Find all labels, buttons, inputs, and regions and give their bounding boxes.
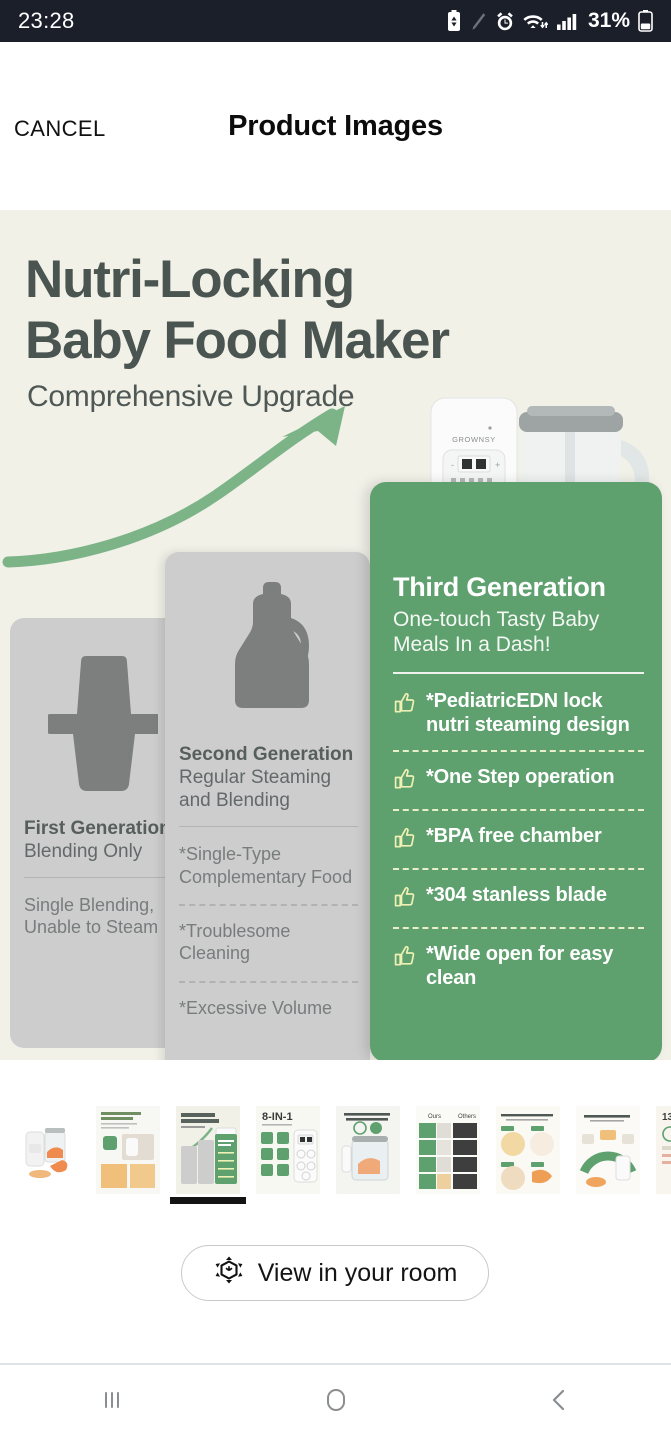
signal-icon	[556, 11, 578, 32]
recents-icon	[96, 1384, 128, 1421]
wifi-icon	[523, 11, 548, 32]
thumbs-up-icon	[393, 767, 417, 796]
battery-icon	[638, 10, 653, 32]
svg-text:13: 13	[662, 1112, 671, 1123]
page-title: Product Images	[0, 110, 671, 143]
status-icons: 31%	[446, 9, 653, 33]
thumbnail-natural-steaming-structure[interactable]	[328, 1104, 408, 1196]
view-in-your-room-label: View in your room	[258, 1259, 458, 1288]
divider	[179, 826, 358, 827]
android-navbar	[0, 1365, 671, 1440]
generation-second-bullet-3: *Excessive Volume	[179, 997, 358, 1019]
thumbnail-preparation-every-stage[interactable]	[488, 1104, 568, 1196]
thumbnail-image	[96, 1106, 160, 1194]
thumbnail-ours-vs-others[interactable]: Ours Others	[408, 1104, 488, 1196]
hero-title: Nutri-Locking Baby Food Maker	[25, 250, 449, 372]
feature-item: *304 stanless blade	[393, 883, 644, 914]
divider-dashed	[393, 927, 644, 929]
generation-second-heading: Second Generation	[179, 744, 358, 766]
divider-dashed	[179, 981, 358, 983]
thumbs-up-icon	[393, 826, 417, 855]
view-in-your-room-button[interactable]: View in your room	[181, 1245, 489, 1301]
feature-label-2: *One Step operation	[426, 765, 614, 789]
recents-button[interactable]	[0, 1384, 224, 1421]
thumbs-up-icon	[393, 944, 417, 973]
battery-percent: 31%	[588, 9, 630, 33]
status-time: 23:28	[18, 8, 75, 34]
thumbnail-image	[496, 1106, 560, 1194]
product-image-viewer[interactable]: Nutri-Locking Baby Food Maker Comprehens…	[0, 210, 671, 1060]
thumbnail-8-in-1-controls[interactable]: 8-IN-1	[248, 1104, 328, 1196]
thumbnail-strip[interactable]: 8-IN-1	[0, 1060, 671, 1240]
status-bar: 23:28 31%	[0, 0, 671, 42]
svg-text:8-IN-1: 8-IN-1	[262, 1111, 293, 1123]
generation-second-bullet-2: *Troublesome Cleaning	[179, 920, 358, 965]
home-icon	[319, 1383, 353, 1422]
thumbnail-versatile-functions[interactable]	[568, 1104, 648, 1196]
generation-card-third-text: Third Generation One-touch Tasty Baby Me…	[393, 572, 644, 990]
thumbnail-image	[336, 1106, 400, 1194]
feature-item: *PediatricEDN lock nutri steaming design	[393, 689, 644, 737]
feature-label-1: *PediatricEDN lock nutri steaming design	[426, 689, 644, 737]
thumbnail-image	[176, 1106, 240, 1194]
feature-item: *Wide open for easy clean	[393, 942, 644, 990]
feature-item: *BPA free chamber	[393, 824, 644, 855]
divider-dashed	[393, 868, 644, 870]
feature-label-4: *304 stanless blade	[426, 883, 607, 907]
svg-text:Ours: Ours	[428, 1114, 441, 1120]
feature-item: *One Step operation	[393, 765, 644, 796]
thumbnail-image: 8-IN-1	[256, 1106, 320, 1194]
thumbnail-image	[16, 1106, 80, 1194]
generation-third-heading: Third Generation	[393, 572, 644, 603]
app-header: CANCEL Product Images	[0, 42, 671, 210]
jug-blender-silhouette-icon	[215, 578, 320, 723]
home-button[interactable]	[224, 1383, 448, 1422]
thumbs-up-icon	[393, 885, 417, 914]
thumbnail-image	[576, 1106, 640, 1194]
thumbs-up-icon	[393, 691, 417, 720]
svg-text:-: -	[451, 460, 454, 470]
thumbnail-product-hero-shot[interactable]	[8, 1104, 88, 1196]
battery-saver-icon	[446, 10, 462, 32]
back-button[interactable]	[447, 1384, 671, 1421]
ar-cube-icon	[213, 1254, 245, 1293]
thumbnail-nutri-locking-comparison[interactable]	[168, 1104, 248, 1196]
divider	[393, 672, 644, 674]
generation-third-subheading: One-touch Tasty Baby Meals In a Dash!	[393, 607, 644, 658]
generation-card-second-text: Second Generation Regular Steaming and B…	[179, 744, 358, 1019]
thumbnail-one-touch-easy[interactable]	[88, 1104, 168, 1196]
generation-card-second: Second Generation Regular Steaming and B…	[165, 552, 370, 1060]
feature-label-5: *Wide open for easy clean	[426, 942, 644, 990]
divider-dashed	[179, 904, 358, 906]
thumbnail-image: Ours Others	[416, 1106, 480, 1194]
thumbnail-image: 13	[656, 1106, 671, 1194]
pencil-icon	[470, 11, 487, 32]
generation-second-bullet-1: *Single-Type Complementary Food	[179, 843, 358, 888]
svg-text:Others: Others	[458, 1114, 476, 1120]
thumbnail-selected-indicator	[170, 1197, 246, 1204]
alarm-icon	[495, 11, 515, 32]
back-icon	[543, 1384, 575, 1421]
generation-card-third: Third Generation One-touch Tasty Baby Me…	[370, 482, 662, 1060]
divider-dashed	[393, 750, 644, 752]
feature-label-3: *BPA free chamber	[426, 824, 602, 848]
divider-dashed	[393, 809, 644, 811]
generation-second-subheading: Regular Steaming and Blending	[179, 766, 358, 812]
blender-silhouette-icon	[48, 648, 158, 798]
svg-text:+: +	[495, 460, 500, 470]
svg-text:GROWNSY: GROWNSY	[452, 435, 496, 444]
thumbnail-extra[interactable]: 13	[648, 1104, 671, 1196]
